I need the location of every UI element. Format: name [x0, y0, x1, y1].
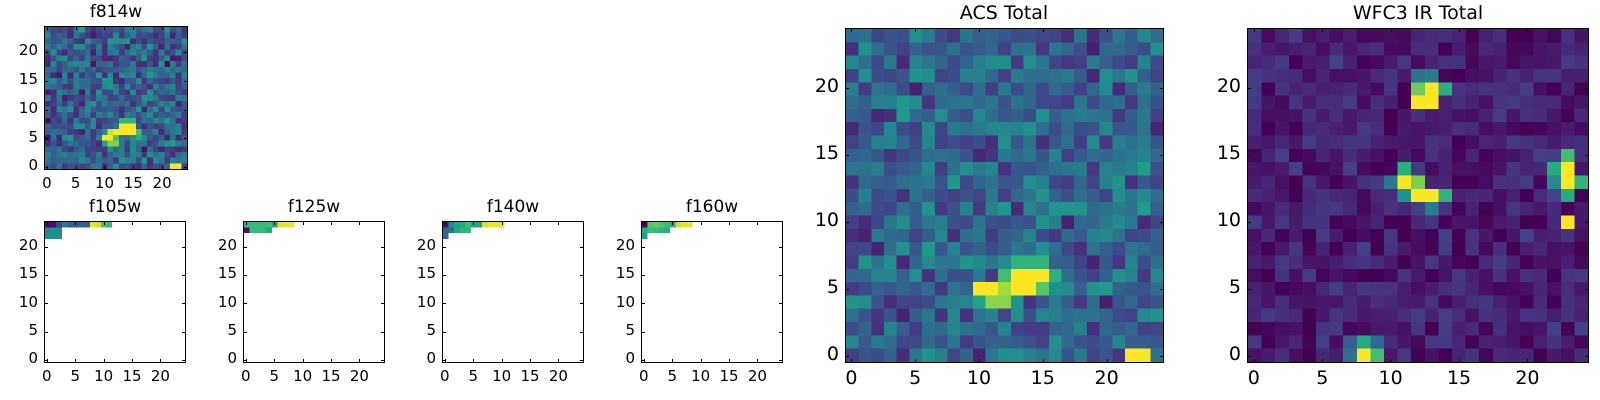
x-tick-mark [757, 359, 758, 363]
x-tick-mark [331, 359, 332, 363]
x-tick-mark-top [274, 221, 275, 225]
y-tick-mark [44, 81, 48, 82]
y-tick-mark [243, 303, 247, 304]
axes-f814w[interactable] [44, 26, 188, 170]
panel-title-acs-total: ACS Total [845, 2, 1163, 24]
y-tick-mark [243, 247, 247, 248]
y-tick-mark [44, 332, 48, 333]
y-tick-label: 10 [799, 209, 839, 231]
y-tick-mark [442, 303, 446, 304]
x-tick-mark [160, 359, 161, 363]
y-tick-label: 5 [0, 321, 38, 339]
panel-f125w: f125w 0510152005101520 [199, 195, 399, 400]
y-tick-label: 15 [0, 70, 38, 88]
x-tick-mark-top [160, 221, 161, 225]
y-tick-mark-right [381, 247, 385, 248]
y-tick-label: 0 [595, 349, 635, 367]
y-tick-label: 5 [396, 321, 436, 339]
y-tick-label: 15 [799, 142, 839, 164]
panel-f140w: f140w 0510152005101520 [398, 195, 598, 400]
y-tick-label: 0 [0, 156, 38, 174]
y-tick-mark-right [381, 303, 385, 304]
x-tick-label: 20 [737, 367, 777, 385]
y-tick-mark-right [381, 275, 385, 276]
x-tick-mark-top [303, 221, 304, 225]
y-tick-mark-right [580, 332, 584, 333]
x-tick-mark [502, 359, 503, 363]
y-tick-label: 10 [0, 293, 38, 311]
y-tick-mark-right [779, 303, 783, 304]
x-tick-mark [1043, 359, 1044, 363]
y-tick-label: 0 [1201, 343, 1241, 365]
x-tick-mark [359, 359, 360, 363]
y-tick-mark [44, 167, 48, 168]
y-tick-mark [44, 275, 48, 276]
x-tick-mark-top [76, 26, 77, 30]
y-tick-mark [1247, 289, 1251, 290]
x-tick-mark [729, 359, 730, 363]
x-tick-mark [104, 166, 105, 170]
y-tick-mark-right [381, 360, 385, 361]
x-tick-mark-top [104, 26, 105, 30]
x-tick-mark [132, 359, 133, 363]
y-tick-mark [1247, 222, 1251, 223]
x-tick-label: 15 [1439, 367, 1479, 389]
x-tick-label: 20 [538, 367, 578, 385]
y-tick-mark [845, 289, 849, 290]
y-tick-label: 15 [197, 264, 237, 282]
y-tick-label: 0 [396, 349, 436, 367]
y-tick-mark [641, 303, 645, 304]
y-tick-mark-right [1585, 222, 1589, 223]
x-tick-mark-top [445, 221, 446, 225]
y-tick-mark [1247, 88, 1251, 89]
y-tick-mark [641, 332, 645, 333]
x-tick-mark-top [104, 221, 105, 225]
heatmap-f105w [45, 222, 185, 362]
x-tick-mark [133, 166, 134, 170]
panel-acs-total: ACS Total 0510152005101520 [800, 0, 1180, 400]
x-tick-mark-top [47, 221, 48, 225]
y-tick-mark-right [580, 303, 584, 304]
y-tick-mark-right [184, 138, 188, 139]
y-tick-label: 0 [0, 349, 38, 367]
x-tick-mark-top [1107, 28, 1108, 32]
y-tick-mark [1247, 356, 1251, 357]
y-tick-mark [44, 138, 48, 139]
x-tick-mark-top [1322, 28, 1323, 32]
panel-title-f105w: f105w [44, 197, 186, 217]
axes-f160w[interactable] [641, 221, 783, 363]
y-tick-mark-right [182, 360, 186, 361]
x-tick-mark-top [1254, 28, 1255, 32]
y-tick-mark-right [580, 275, 584, 276]
x-tick-mark-top [672, 221, 673, 225]
x-tick-label: 20 [339, 367, 379, 385]
x-tick-mark-top [132, 221, 133, 225]
y-tick-mark-right [1160, 289, 1164, 290]
y-tick-label: 20 [0, 236, 38, 254]
x-tick-mark-top [757, 221, 758, 225]
axes-f125w[interactable] [243, 221, 385, 363]
x-tick-label: 10 [1371, 367, 1411, 389]
x-tick-mark [162, 166, 163, 170]
x-tick-mark [1322, 359, 1323, 363]
y-tick-label: 20 [799, 75, 839, 97]
x-tick-mark [979, 359, 980, 363]
x-tick-mark-top [1527, 28, 1528, 32]
heatmap-f160w [642, 222, 782, 362]
heatmap-f125w [244, 222, 384, 362]
y-tick-mark [1247, 155, 1251, 156]
y-tick-mark-right [182, 275, 186, 276]
y-tick-mark [845, 155, 849, 156]
panel-title-wfc3-ir-total: WFC3 IR Total [1247, 2, 1589, 24]
y-tick-mark [442, 247, 446, 248]
x-tick-label: 0 [831, 367, 871, 389]
panel-title-f125w: f125w [243, 197, 385, 217]
y-tick-label: 20 [0, 41, 38, 59]
x-tick-label: 15 [1023, 367, 1063, 389]
figure-canvas: f814w 0510152005101520 f105w 05101520051… [0, 0, 1600, 400]
x-tick-mark [1391, 359, 1392, 363]
y-tick-mark [442, 332, 446, 333]
y-tick-mark [44, 52, 48, 53]
x-tick-mark-top [331, 221, 332, 225]
y-tick-mark-right [184, 52, 188, 53]
y-tick-mark-right [184, 167, 188, 168]
y-tick-label: 5 [197, 321, 237, 339]
y-tick-mark-right [1585, 356, 1589, 357]
y-tick-mark-right [182, 247, 186, 248]
x-tick-mark-top [558, 221, 559, 225]
x-tick-mark [1107, 359, 1108, 363]
x-tick-mark-top [502, 221, 503, 225]
heatmap-wfc3-ir-total [1248, 29, 1588, 362]
y-tick-label: 5 [0, 128, 38, 146]
x-tick-mark-top [915, 28, 916, 32]
y-tick-label: 10 [1201, 209, 1241, 231]
x-tick-mark [104, 359, 105, 363]
y-tick-label: 20 [396, 236, 436, 254]
y-tick-mark-right [184, 81, 188, 82]
x-tick-mark-top [75, 221, 76, 225]
y-tick-label: 15 [0, 264, 38, 282]
y-tick-mark-right [779, 360, 783, 361]
y-tick-label: 10 [0, 99, 38, 117]
x-tick-mark [851, 359, 852, 363]
panel-f160w: f160w 0510152005101520 [597, 195, 797, 400]
x-tick-mark-top [162, 26, 163, 30]
x-tick-mark-top [47, 26, 48, 30]
heatmap-f140w [443, 222, 583, 362]
x-tick-mark [530, 359, 531, 363]
axes-wfc3-ir-total[interactable] [1247, 28, 1589, 363]
x-tick-mark [915, 359, 916, 363]
x-tick-label: 20 [142, 174, 182, 192]
y-tick-mark-right [1160, 222, 1164, 223]
y-tick-label: 10 [197, 293, 237, 311]
x-tick-mark-top [1043, 28, 1044, 32]
y-tick-mark [641, 275, 645, 276]
x-tick-label: 10 [959, 367, 999, 389]
y-tick-label: 10 [396, 293, 436, 311]
y-tick-label: 20 [1201, 75, 1241, 97]
y-tick-mark [641, 360, 645, 361]
y-tick-mark [243, 332, 247, 333]
y-tick-label: 5 [1201, 276, 1241, 298]
y-tick-label: 20 [197, 236, 237, 254]
y-tick-label: 15 [396, 264, 436, 282]
x-tick-mark-top [729, 221, 730, 225]
x-tick-mark [1527, 359, 1528, 363]
panel-title-f140w: f140w [442, 197, 584, 217]
x-tick-mark [701, 359, 702, 363]
x-tick-label: 20 [1087, 367, 1127, 389]
y-tick-mark-right [182, 332, 186, 333]
x-tick-mark-top [644, 221, 645, 225]
y-tick-label: 15 [595, 264, 635, 282]
x-tick-label: 5 [1302, 367, 1342, 389]
x-tick-mark [75, 359, 76, 363]
y-tick-mark-right [1585, 289, 1589, 290]
x-tick-mark [558, 359, 559, 363]
panel-title-f814w: f814w [44, 2, 188, 22]
x-tick-mark [76, 166, 77, 170]
y-tick-label: 5 [595, 321, 635, 339]
y-tick-mark [243, 360, 247, 361]
y-tick-mark [243, 275, 247, 276]
y-tick-mark-right [182, 303, 186, 304]
x-tick-label: 5 [895, 367, 935, 389]
y-tick-mark-right [381, 332, 385, 333]
y-tick-mark-right [184, 110, 188, 111]
x-tick-mark [1459, 359, 1460, 363]
x-tick-label: 20 [1507, 367, 1547, 389]
axes-acs-total[interactable] [845, 28, 1164, 363]
y-tick-mark-right [779, 247, 783, 248]
x-tick-mark [672, 359, 673, 363]
panel-title-f160w: f160w [641, 197, 783, 217]
x-tick-mark [1254, 359, 1255, 363]
y-tick-mark-right [779, 275, 783, 276]
axes-f140w[interactable] [442, 221, 584, 363]
x-tick-mark-top [851, 28, 852, 32]
y-tick-mark-right [1585, 88, 1589, 89]
x-tick-mark-top [1459, 28, 1460, 32]
y-tick-mark-right [1160, 155, 1164, 156]
y-tick-mark [845, 88, 849, 89]
x-tick-mark [303, 359, 304, 363]
x-tick-label: 20 [140, 367, 180, 385]
y-tick-mark [44, 110, 48, 111]
x-tick-mark-top [1391, 28, 1392, 32]
y-tick-label: 0 [197, 349, 237, 367]
x-tick-mark [274, 359, 275, 363]
panel-wfc3-ir-total: WFC3 IR Total 0510152005101520 [1190, 0, 1600, 400]
x-tick-mark-top [359, 221, 360, 225]
y-tick-mark-right [1585, 155, 1589, 156]
y-tick-label: 10 [595, 293, 635, 311]
y-tick-mark [845, 222, 849, 223]
y-tick-mark [845, 356, 849, 357]
y-tick-label: 5 [799, 276, 839, 298]
y-tick-label: 15 [1201, 142, 1241, 164]
y-tick-mark [442, 360, 446, 361]
x-tick-mark-top [246, 221, 247, 225]
panel-f105w: f105w 0510152005101520 [0, 195, 200, 400]
y-tick-label: 20 [595, 236, 635, 254]
y-tick-mark [44, 247, 48, 248]
x-tick-mark-top [473, 221, 474, 225]
x-tick-mark-top [133, 26, 134, 30]
y-tick-mark [442, 275, 446, 276]
x-tick-mark-top [701, 221, 702, 225]
y-tick-label: 0 [799, 343, 839, 365]
y-tick-mark [44, 360, 48, 361]
y-tick-mark-right [1160, 356, 1164, 357]
y-tick-mark [44, 303, 48, 304]
x-tick-label: 0 [1234, 367, 1274, 389]
y-tick-mark [641, 247, 645, 248]
x-tick-mark [473, 359, 474, 363]
heatmap-acs-total [846, 29, 1163, 362]
y-tick-mark-right [580, 360, 584, 361]
y-tick-mark-right [779, 332, 783, 333]
axes-f105w[interactable] [44, 221, 186, 363]
x-tick-mark-top [979, 28, 980, 32]
x-tick-mark-top [530, 221, 531, 225]
y-tick-mark-right [1160, 88, 1164, 89]
heatmap-f814w [45, 27, 187, 169]
panel-f814w: f814w 0510152005101520 [0, 0, 200, 195]
y-tick-mark-right [580, 247, 584, 248]
